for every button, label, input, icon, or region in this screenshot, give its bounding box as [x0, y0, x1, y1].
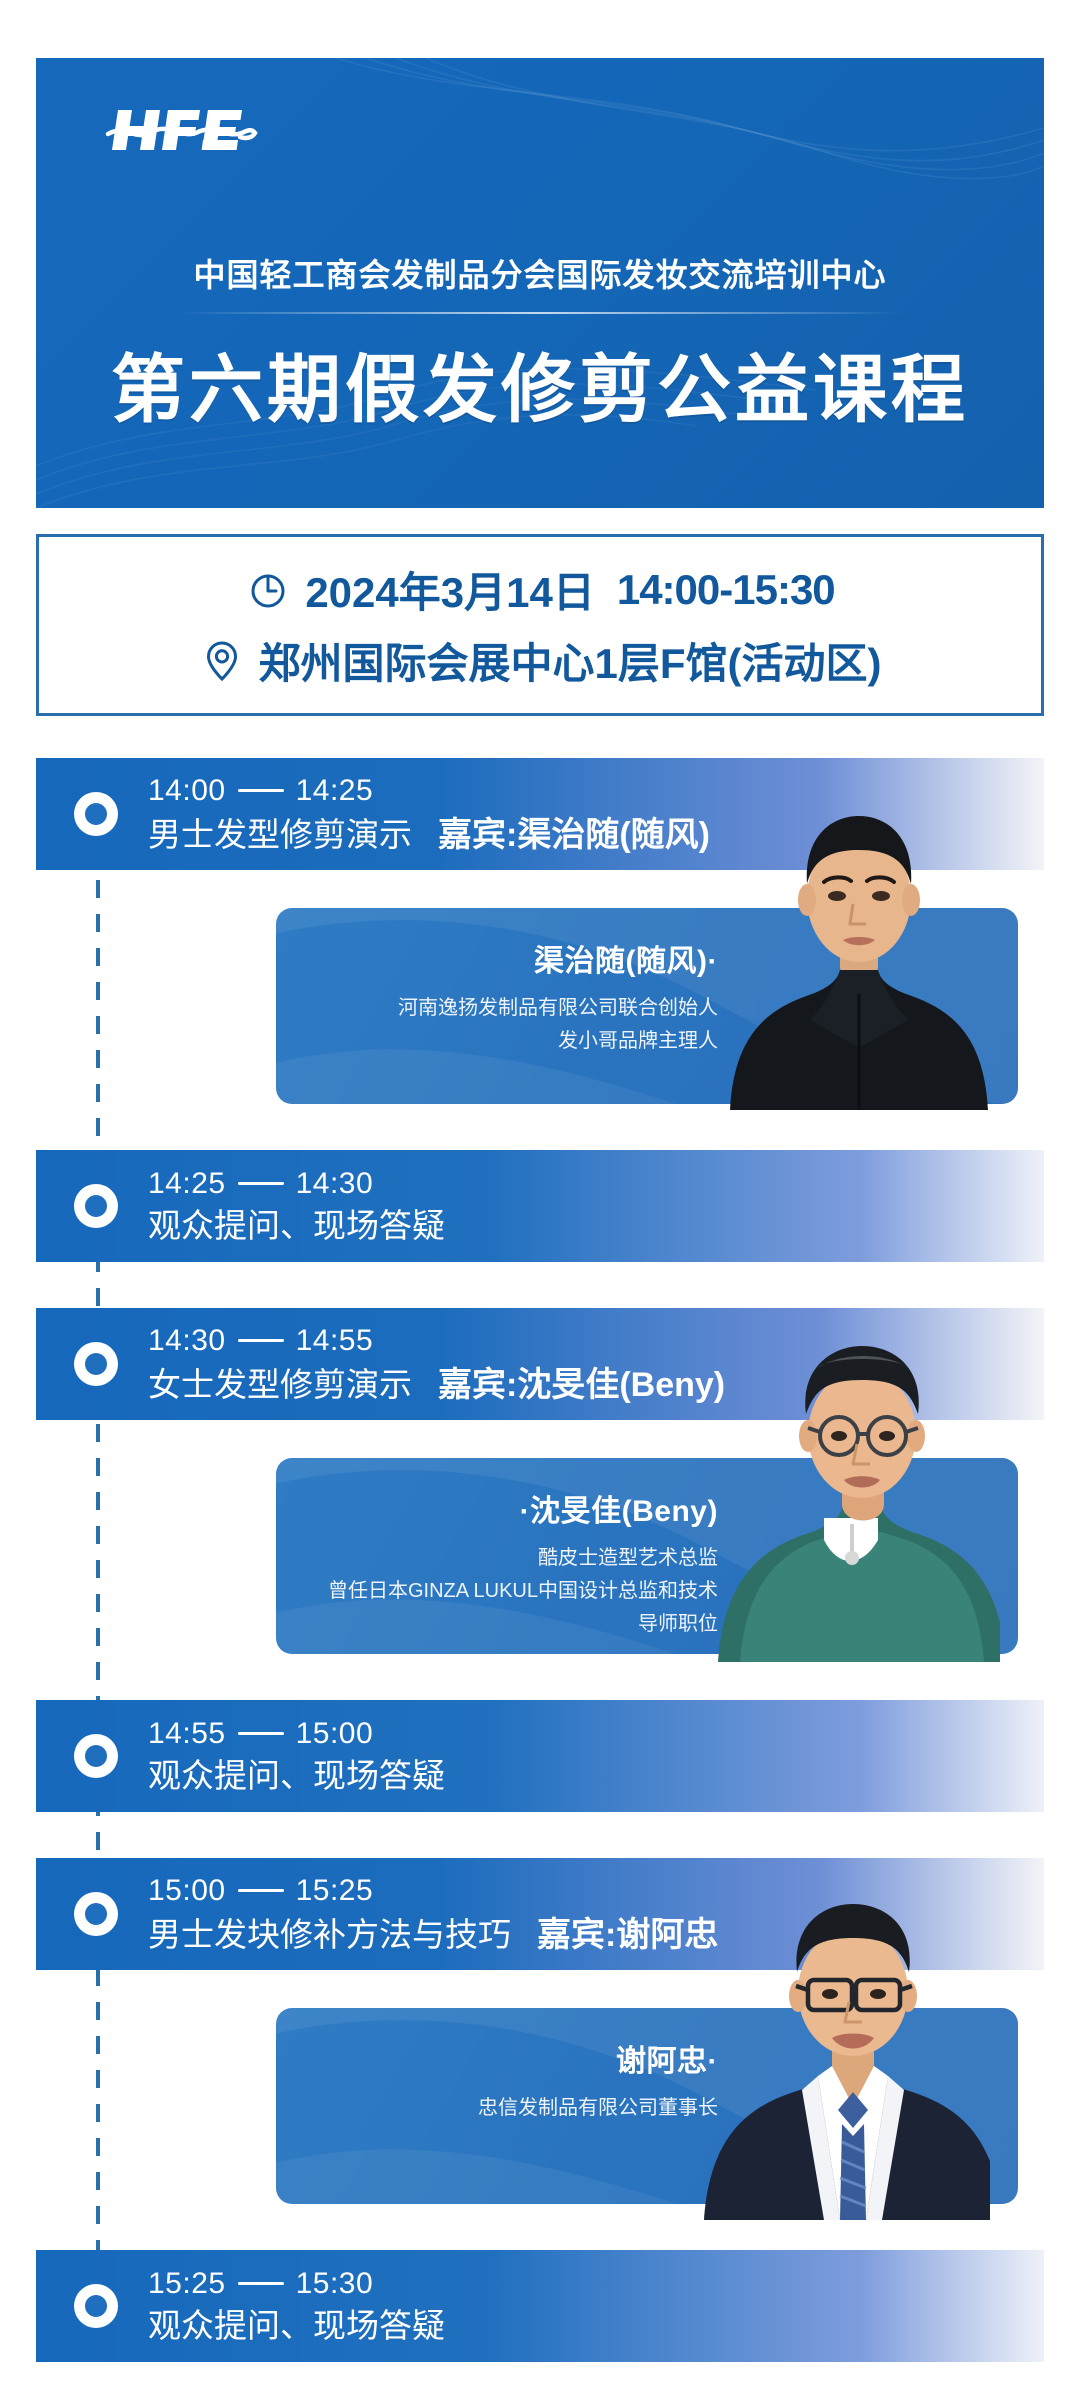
schedule-guest: 嘉宾:渠治随(随风)	[438, 815, 710, 855]
timeline-bullet-icon	[74, 1734, 118, 1778]
clock-icon	[245, 567, 291, 613]
hero-divider	[176, 312, 904, 314]
schedule-start: 14:25	[148, 1166, 226, 1201]
schedule-time: 15:25 15:30	[148, 2266, 445, 2301]
time-dash-icon	[238, 1182, 284, 1185]
schedule-topic: 男士发块修补方法与技巧	[148, 1916, 511, 1955]
hero-banner: 中国轻工商会发制品分会国际发妆交流培训中心 第六期假发修剪公益课程	[36, 58, 1044, 508]
event-location: 郑州国际会展中心1层F馆(活动区)	[259, 630, 882, 691]
schedule-time: 14:25 14:30	[148, 1166, 445, 1201]
schedule-end: 14:55	[296, 1323, 374, 1358]
timeline-bullet-icon	[74, 792, 118, 836]
schedule-start: 15:00	[148, 1873, 226, 1908]
timeline-bullet-icon	[74, 1892, 118, 1936]
speaker-name: ·沈旻佳(Beny)	[316, 1486, 718, 1530]
schedule-topic: 观众提问、现场答疑	[148, 2307, 445, 2346]
schedule-time: 14:30 14:55	[148, 1323, 725, 1358]
schedule-time: 15:00 15:25	[148, 1873, 718, 1908]
schedule-item[interactable]: 14:25 14:30 观众提问、现场答疑	[36, 1150, 1044, 1262]
timeline-bullet-icon	[74, 1184, 118, 1228]
schedule-start: 14:55	[148, 1716, 226, 1751]
schedule-topic: 女士发型修剪演示	[148, 1366, 412, 1405]
timeline-bullet-icon	[74, 2284, 118, 2328]
schedule-start: 15:25	[148, 2266, 226, 2301]
schedule-bar[interactable]: 15:25 15:30 观众提问、现场答疑	[36, 2250, 1044, 2362]
time-dash-icon	[238, 1732, 284, 1735]
location-pin-icon	[199, 638, 245, 684]
schedule-start: 14:00	[148, 773, 226, 808]
schedule-time: 14:00 14:25	[148, 773, 710, 808]
schedule-item[interactable]: 15:25 15:30 观众提问、现场答疑	[36, 2250, 1044, 2362]
speaker-role: 河南逸扬发制品有限公司联合创始人 发小哥品牌主理人	[316, 992, 718, 1058]
event-time: 14:00-15:30	[617, 566, 835, 614]
hero-subtitle: 中国轻工商会发制品分会国际发妆交流培训中心	[36, 250, 1044, 296]
schedule-end: 15:30	[296, 2266, 374, 2301]
portrait-shen-minjia	[700, 1318, 1000, 1662]
timeline-bullet-icon	[74, 1342, 118, 1386]
schedule-bar[interactable]: 14:55 15:00 观众提问、现场答疑	[36, 1700, 1044, 1812]
time-dash-icon	[238, 2282, 284, 2285]
schedule-topic: 观众提问、现场答疑	[148, 1207, 445, 1246]
portrait-xie-azhong	[690, 1880, 990, 2220]
schedule-guest: 嘉宾:沈旻佳(Beny)	[438, 1365, 725, 1405]
timeline-dashed-connector	[96, 880, 100, 2300]
schedule-item[interactable]: 14:55 15:00 观众提问、现场答疑	[36, 1700, 1044, 1812]
schedule-end: 14:30	[296, 1166, 374, 1201]
portrait-qu-zhisui	[700, 780, 1000, 1110]
speaker-name: 谢阿忠·	[316, 2036, 718, 2080]
speaker-role: 忠信发制品有限公司董事长	[316, 2092, 718, 2125]
event-location-row: 郑州国际会展中心1层F馆(活动区)	[39, 630, 1041, 691]
schedule-topic: 观众提问、现场答疑	[148, 1757, 445, 1796]
poster-page: 中国轻工商会发制品分会国际发妆交流培训中心 第六期假发修剪公益课程 2024年3…	[0, 0, 1080, 2401]
event-date-row: 2024年3月14日 14:00-15:30	[39, 559, 1041, 620]
hero-title: 第六期假发修剪公益课程	[36, 330, 1044, 437]
time-dash-icon	[238, 1339, 284, 1342]
event-info-box: 2024年3月14日 14:00-15:30 郑州国际会展中心1层F馆(活动区)	[36, 534, 1044, 716]
schedule-end: 14:25	[296, 773, 374, 808]
hfe-logo	[102, 94, 262, 166]
event-date: 2024年3月14日	[305, 559, 595, 620]
schedule-bar[interactable]: 14:25 14:30 观众提问、现场答疑	[36, 1150, 1044, 1262]
schedule-topic: 男士发型修剪演示	[148, 816, 412, 855]
schedule-end: 15:00	[296, 1716, 374, 1751]
speaker-name: 渠治随(随风)·	[316, 936, 718, 980]
time-dash-icon	[238, 789, 284, 792]
schedule-end: 15:25	[296, 1873, 374, 1908]
time-dash-icon	[238, 1889, 284, 1892]
speaker-role: 酷皮士造型艺术总监 曾任日本GINZA LUKUL中国设计总监和技术导师职位	[316, 1542, 718, 1641]
schedule-start: 14:30	[148, 1323, 226, 1358]
schedule-time: 14:55 15:00	[148, 1716, 445, 1751]
